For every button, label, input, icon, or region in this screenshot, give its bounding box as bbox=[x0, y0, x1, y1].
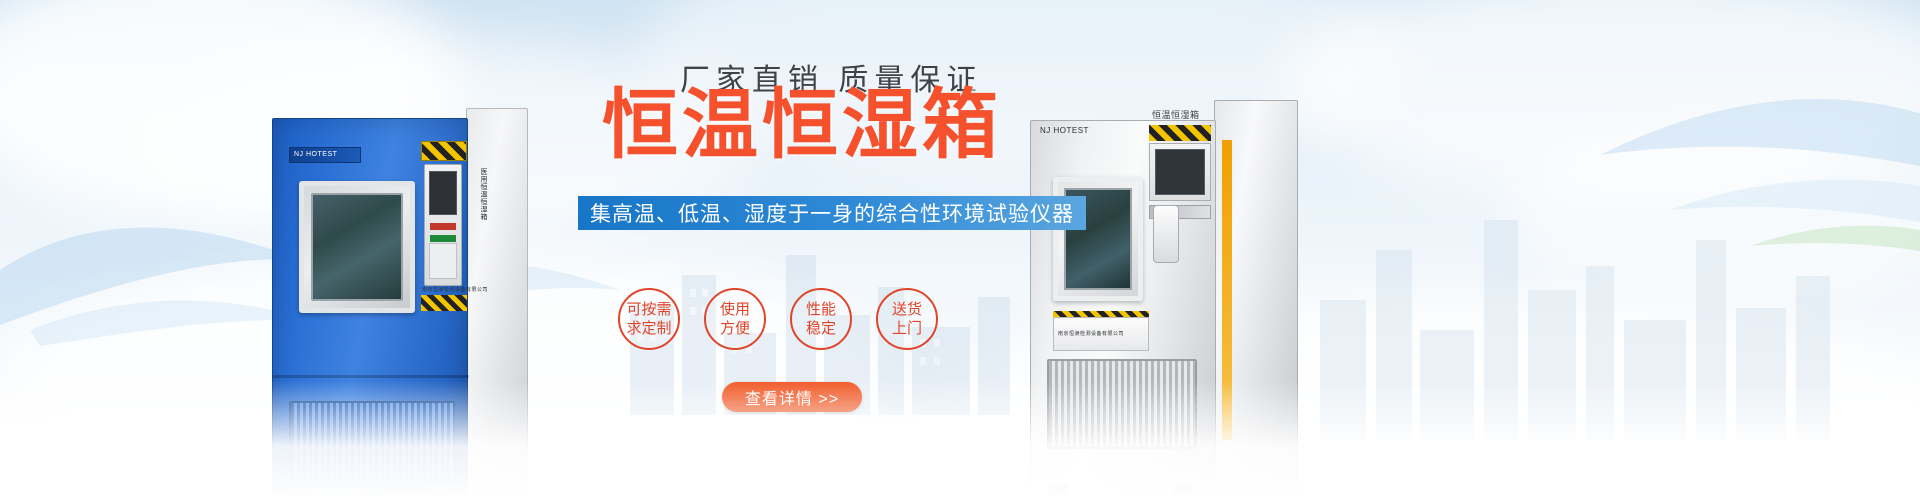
chamber-left-control-panel bbox=[424, 164, 462, 286]
cloud-wash bbox=[1500, 120, 1920, 300]
chamber-left-company-text: 南京恒昶检测设备有限公司 bbox=[422, 286, 488, 293]
chamber-left-door bbox=[299, 181, 415, 313]
chamber-right-accent-stripe bbox=[1222, 140, 1232, 440]
feature-circle-custom-line2: 求定制 bbox=[626, 319, 671, 338]
skyline-silhouette bbox=[1320, 180, 1840, 440]
chamber-right-door-handle bbox=[1153, 205, 1179, 263]
feature-circle-stable: 性能 稳定 bbox=[790, 288, 852, 350]
cloud-wash bbox=[1280, 0, 1920, 200]
feature-circle-custom: 可按需 求定制 bbox=[618, 288, 680, 350]
chamber-right-display-screen bbox=[1155, 149, 1205, 195]
feature-circle-delivery: 送货 上门 bbox=[876, 288, 938, 350]
banner-subtitle: 集高温、低温、湿度于一身的综合性环境试验仪器 bbox=[578, 196, 1086, 230]
feature-circle-stable-line2: 稳定 bbox=[806, 319, 836, 338]
banner-copy-block: 厂家直销 质量保证 恒温恒湿箱 集高温、低温、湿度于一身的综合性环境试验仪器 可… bbox=[560, 0, 1080, 500]
swoosh-decoration bbox=[1480, 60, 1920, 280]
chamber-left-door-window bbox=[311, 193, 403, 301]
chamber-left-brand-plate: NJ HOTEST bbox=[289, 147, 361, 163]
feature-circle-list: 可按需 求定制 使用 方便 性能 稳定 送货 上门 bbox=[618, 288, 938, 350]
chamber-left-vent-grille bbox=[289, 401, 455, 479]
chamber-left-led-indicator bbox=[430, 223, 456, 230]
chamber-left-keypad bbox=[429, 243, 457, 279]
feature-circle-easy-use-line2: 方便 bbox=[720, 319, 750, 338]
banner-headline: 恒温恒湿箱 bbox=[602, 88, 1002, 164]
feature-circle-easy-use-line1: 使用 bbox=[720, 300, 750, 319]
chamber-left-led-indicator bbox=[430, 235, 456, 242]
chamber-left-brand-text: NJ HOTEST bbox=[294, 151, 337, 158]
feature-circle-custom-line1: 可按需 bbox=[626, 300, 671, 319]
feature-circle-stable-line1: 性能 bbox=[806, 300, 836, 319]
chamber-right-panel-label: 恒温恒湿箱 bbox=[1152, 108, 1200, 121]
chamber-left-warning-strip bbox=[421, 295, 467, 311]
product-chamber-left: NJ HOTEST 医用恒温恒湿箱 南京恒昶检测设备有限公司 bbox=[272, 118, 522, 498]
chamber-left-warning-sticker bbox=[421, 141, 467, 161]
view-details-button[interactable]: 查看详情 >> bbox=[722, 382, 862, 412]
chamber-left-side-panel bbox=[466, 108, 528, 496]
chamber-left-panel-label: 医用恒温恒湿箱 bbox=[478, 168, 488, 221]
promo-banner: NJ HOTEST 医用恒温恒湿箱 南京恒昶检测设备有限公司 bbox=[0, 0, 1920, 500]
feature-circle-delivery-line2: 上门 bbox=[892, 319, 922, 338]
chamber-right-warning-sticker bbox=[1149, 125, 1211, 141]
feature-circle-easy-use: 使用 方便 bbox=[704, 288, 766, 350]
chamber-right-control-panel bbox=[1149, 143, 1211, 201]
chamber-left-display-screen bbox=[429, 171, 457, 215]
chamber-left-seam bbox=[273, 375, 469, 378]
feature-circle-delivery-line1: 送货 bbox=[892, 300, 922, 319]
